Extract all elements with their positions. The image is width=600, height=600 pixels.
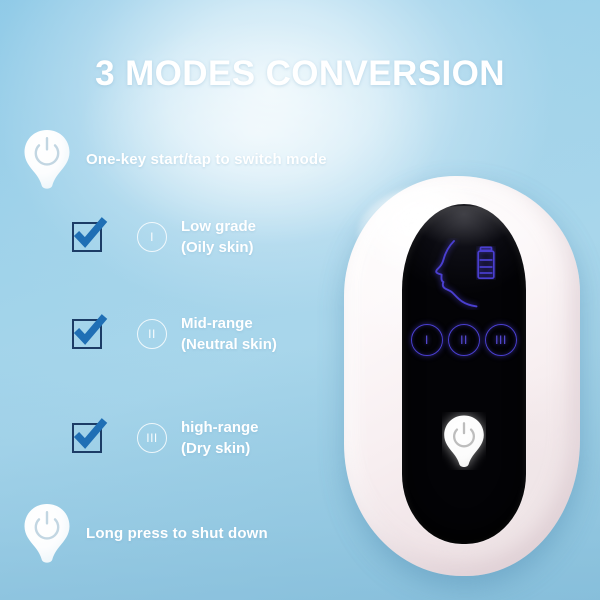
mode-numeral-3: III [137, 423, 167, 453]
check-icon [69, 213, 109, 253]
mode-title-2: Mid-range [181, 313, 277, 334]
mode-subtitle-3: (Dry skin) [181, 438, 259, 459]
screen-mode-indicators: I II III [411, 324, 517, 356]
mode-title-1: Low grade [181, 216, 256, 237]
screen-mode-2: II [448, 324, 480, 356]
instruction-start-row: One-key start/tap to switch mode [22, 128, 327, 190]
instruction-shutdown-label: Long press to shut down [86, 525, 268, 542]
power-bulb-icon [22, 502, 72, 564]
mode-label-3: high-range (Dry skin) [181, 417, 259, 460]
mode-row-1[interactable]: I Low grade (Oily skin) [72, 216, 256, 259]
product-infographic: 3 MODES CONVERSION One-key start/tap [0, 0, 600, 600]
mode-checkbox-2[interactable] [72, 319, 102, 349]
instruction-start-label: One-key start/tap to switch mode [86, 151, 327, 168]
mode-row-3[interactable]: III high-range (Dry skin) [72, 417, 259, 460]
mode-subtitle-2: (Neutral skin) [181, 334, 277, 355]
page-title: 3 MODES CONVERSION [0, 56, 600, 93]
power-bulb-icon [22, 128, 72, 190]
device-illustration: I II III [344, 176, 584, 586]
screen-mode-1: I [411, 324, 443, 356]
check-icon [69, 310, 109, 350]
mode-subtitle-1: (Oily skin) [181, 237, 256, 258]
battery-icon [476, 246, 496, 280]
mode-label-2: Mid-range (Neutral skin) [181, 313, 277, 356]
mode-checkbox-1[interactable] [72, 222, 102, 252]
device-screen: I II III [402, 204, 526, 544]
mode-label-1: Low grade (Oily skin) [181, 216, 256, 259]
mode-checkbox-3[interactable] [72, 423, 102, 453]
screen-mode-3: III [485, 324, 517, 356]
mode-row-2[interactable]: II Mid-range (Neutral skin) [72, 313, 277, 356]
instruction-shutdown-row: Long press to shut down [22, 502, 268, 564]
device-power-button[interactable] [442, 412, 486, 470]
check-icon [69, 414, 109, 454]
mode-title-3: high-range [181, 417, 259, 438]
mode-numeral-2: II [137, 319, 167, 349]
mode-numeral-1: I [137, 222, 167, 252]
face-profile-icon [424, 238, 480, 310]
